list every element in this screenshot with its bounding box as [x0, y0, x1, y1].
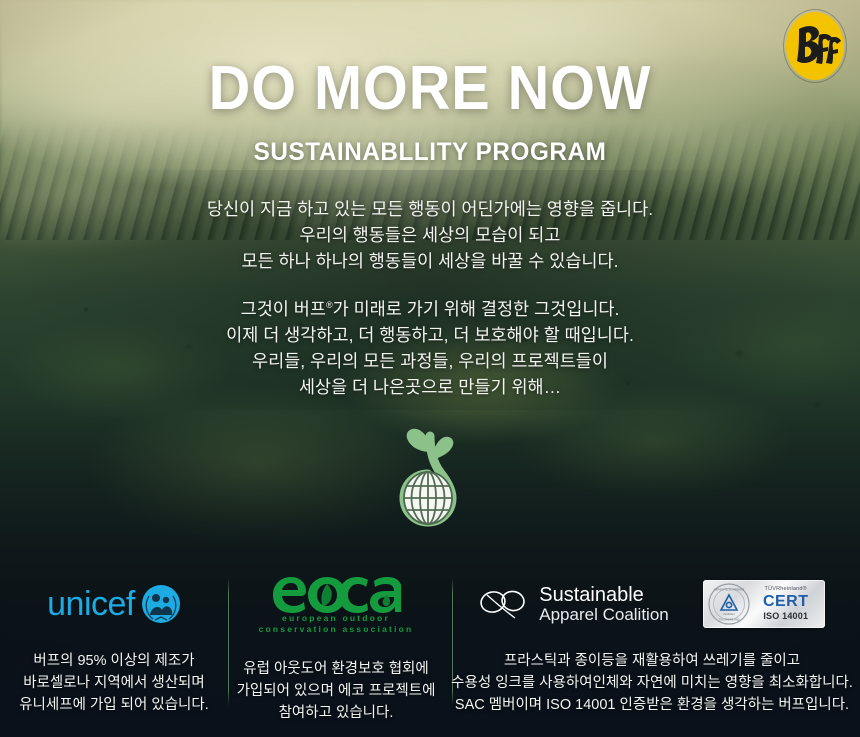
- eoca-caption: 유럽 아웃도어 환경보호 협회에 가입되어 있으며 에코 프로젝트에 참여하고 …: [237, 658, 436, 724]
- unicef-caption: 버프의 95% 이상의 제조가 바로셀로나 지역에서 생산되며 유니세프에 가입…: [19, 650, 209, 716]
- tuv-iso-label: ISO 14001: [751, 612, 821, 621]
- eoca-logo[interactable]: european outdoor conservation associatio…: [259, 576, 414, 632]
- partner-column-sac-iso: Sustainable Apparel Coalition GEPRÜFTE: [444, 568, 860, 716]
- tuv-iso-14001-badge[interactable]: GEPRÜFTE SICHERHEIT TÜV RHEINLAND Zertif…: [703, 580, 825, 628]
- page-subtitle: SUSTAINABLLITY PROGRAM: [13, 138, 847, 167]
- body-line: 당신이 지금 하고 있는 모든 행동이 어딘가에는 영향을 줍니다.: [0, 196, 860, 222]
- body-line-post: 가 미래로 가기 위해 결정한 그것입니다.: [333, 299, 620, 319]
- unicef-logo[interactable]: unicef: [47, 576, 181, 632]
- tuv-cert-label: CERT: [751, 594, 821, 610]
- partner-column-unicef: unicef 버프의 95% 이상의 제조가 바로셀로나 지역에서 생산: [0, 568, 228, 716]
- svg-text:Zertifiziert: Zertifiziert: [723, 612, 735, 616]
- svg-text:TÜV RHEINLAND: TÜV RHEINLAND: [718, 618, 739, 622]
- sac-line-1: Sustainable: [539, 585, 668, 606]
- sac-iso-caption: 프라스틱과 종이등을 재활용하여 쓰레기를 줄이고 수용성 잉크를 사용하여인체…: [451, 650, 853, 716]
- body-line: 우리의 행동들은 세상의 모습이 되고: [0, 222, 860, 248]
- body-line: 세상을 더 나은곳으로 만들기 위해…: [0, 374, 860, 400]
- body-paragraph-1: 당신이 지금 하고 있는 모든 행동이 어딘가에는 영향을 줍니다. 우리의 행…: [0, 196, 860, 274]
- partner-column-eoca: european outdoor conservation associatio…: [228, 568, 444, 724]
- page-title: DO MORE NOW: [30, 58, 830, 120]
- partner-strip: unicef 버프의 95% 이상의 제조가 바로셀로나 지역에서 생산: [0, 568, 860, 718]
- body-line-trademark: 그것이 버프®가 미래로 가기 위해 결정한 그것입니다.: [0, 292, 860, 322]
- sprout-globe-icon: [374, 408, 486, 532]
- unicef-emblem-icon: [141, 584, 181, 624]
- sac-line-2: Apparel Coalition: [539, 606, 668, 624]
- infinity-loop-icon: [479, 588, 529, 620]
- unicef-wordmark: unicef: [47, 587, 135, 621]
- registered-trademark-icon: ®: [326, 300, 333, 310]
- tuv-brand-label: TÜVRheinland®: [751, 587, 821, 593]
- eoca-sub-line1: european outdoor: [282, 613, 390, 624]
- body-line: 우리들, 우리의 모든 과정들, 우리의 프로젝트들이: [0, 348, 860, 374]
- sac-iso-logo-row: Sustainable Apparel Coalition GEPRÜFTE: [479, 576, 824, 632]
- eoca-wordmark-icon: [271, 573, 401, 613]
- body-line: 이제 더 생각하고, 더 행동하고, 더 보호해야 할 때입니다.: [0, 322, 860, 348]
- body-line: 모든 하나 하나의 행동들이 세상을 바꿀 수 있습니다.: [0, 248, 860, 274]
- sustainable-apparel-coalition-logo[interactable]: Sustainable Apparel Coalition: [479, 585, 668, 624]
- eoca-sub-line2: conservation association: [259, 624, 414, 635]
- body-paragraph-2: 그것이 버프®가 미래로 가기 위해 결정한 그것입니다. 이제 더 생각하고,…: [0, 292, 860, 400]
- sustainability-poster: DO MORE NOW SUSTAINABLLITY PROGRAM 당신이 지…: [0, 0, 860, 737]
- svg-text:GEPRÜFTE SICHERHEIT: GEPRÜFTE SICHERHEIT: [713, 587, 744, 591]
- body-line-pre: 그것이 버프: [241, 299, 326, 319]
- tuv-seal-icon: GEPRÜFTE SICHERHEIT TÜV RHEINLAND Zertif…: [707, 582, 751, 626]
